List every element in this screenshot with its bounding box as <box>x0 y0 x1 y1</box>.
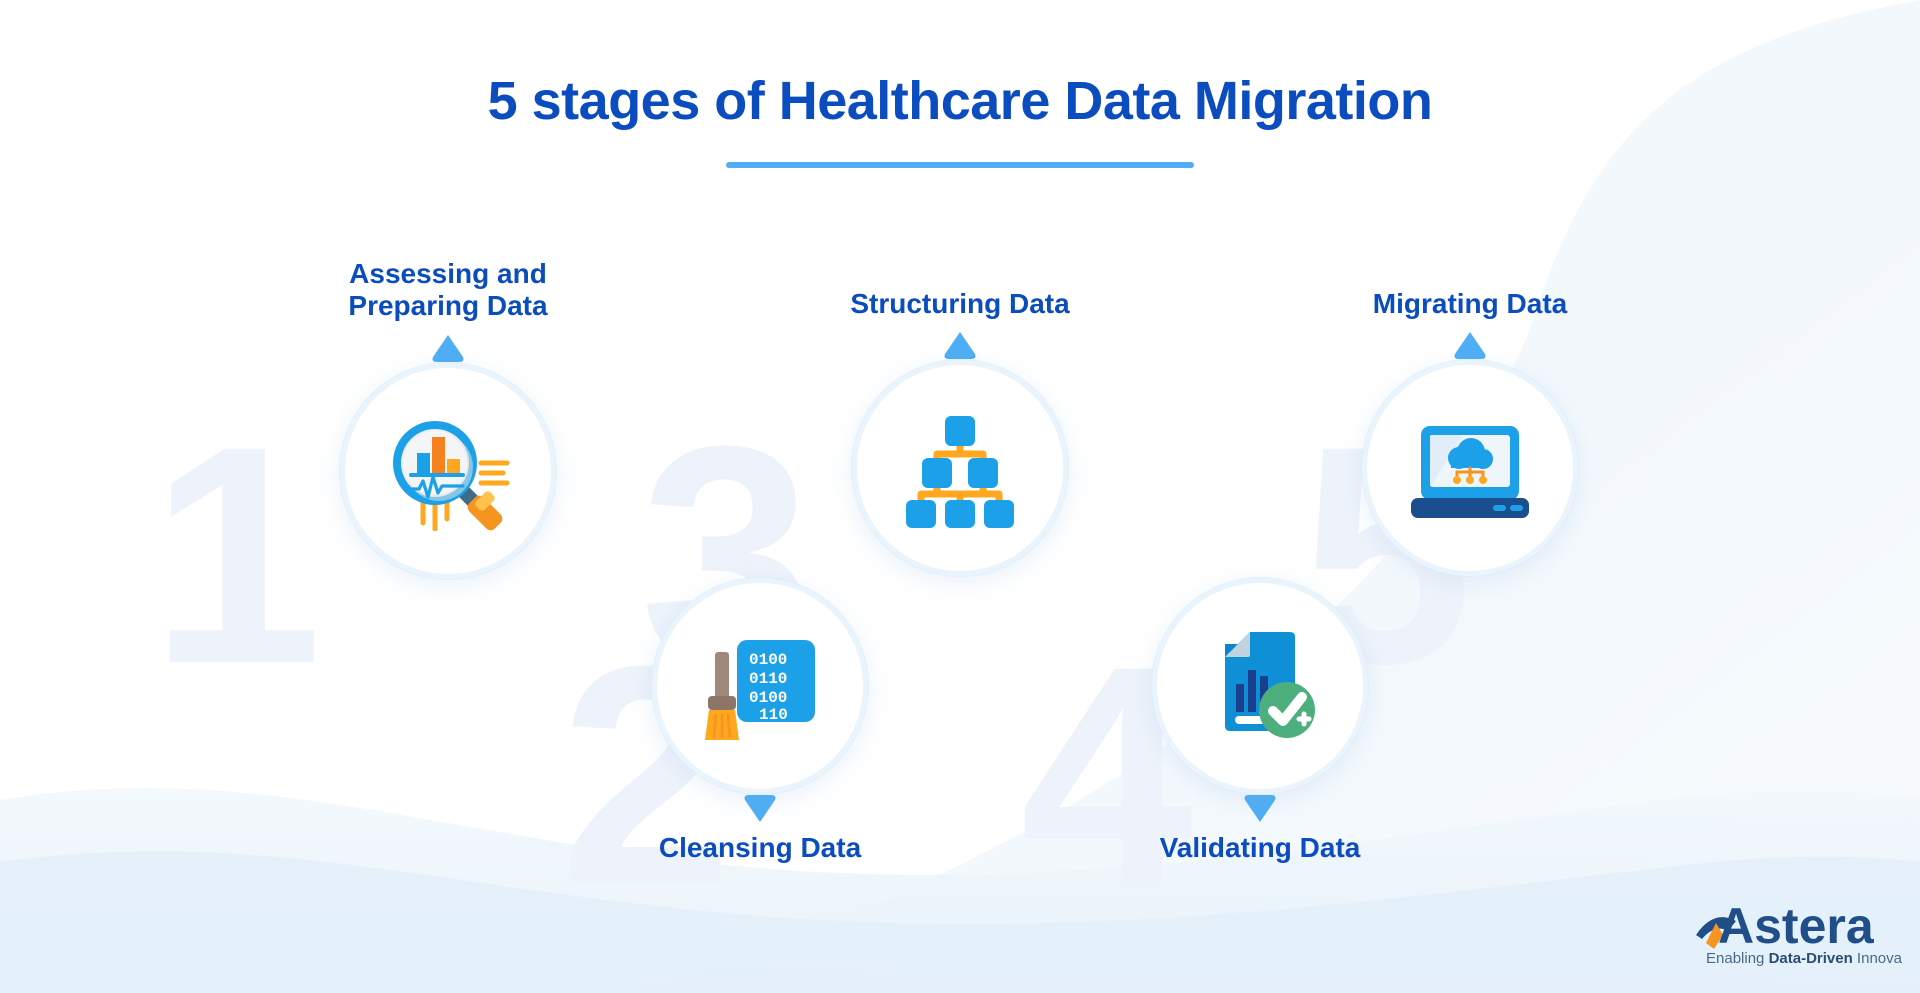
binary-row-3: 0100 <box>749 689 787 707</box>
header: 5 stages of Healthcare Data Migration <box>0 0 1920 168</box>
astera-logo-icon: Astera Enabling Data-Driven Innovation <box>1692 891 1902 973</box>
stage-validating-data[interactable]: Validating Data <box>1110 578 1410 864</box>
hierarchy-tree-icon <box>895 408 1025 528</box>
stage-cleansing-data[interactable]: 0100 0110 0100 110 Cleansing Da <box>610 578 910 864</box>
triangle-up-pointer-icon <box>1242 794 1278 824</box>
page-title: 5 stages of Healthcare Data Migration <box>0 70 1920 132</box>
svg-text:Enabling Data-Driven Innovatio: Enabling Data-Driven Innovation <box>1706 950 1902 967</box>
stage-label-4: Validating Data <box>1110 832 1410 864</box>
stage-label-2: Cleansing Data <box>610 832 910 864</box>
stage-label-1: Assessing and Preparing Data <box>298 258 598 323</box>
triangle-down-pointer-icon <box>430 333 466 363</box>
binary-row-4: 110 <box>759 706 788 724</box>
stage-migrating-data[interactable]: Migrating Data <box>1320 288 1620 576</box>
stage-assessing-and-preparing-data[interactable]: Assessing and Preparing Data <box>298 258 598 579</box>
magnifier-bar-chart-icon <box>383 411 513 531</box>
broom-binary-icon: 0100 0110 0100 110 <box>695 626 825 746</box>
binary-row-2: 0110 <box>749 670 787 688</box>
stage-circle-1[interactable] <box>340 363 556 579</box>
stage-label-3: Structuring Data <box>810 288 1110 320</box>
stage-label-5: Migrating Data <box>1320 288 1620 320</box>
stage-circle-5[interactable] <box>1362 360 1578 576</box>
binary-row-1: 0100 <box>749 651 787 669</box>
stage-structuring-data[interactable]: Structuring Data <box>810 288 1110 576</box>
stage-pointer-4 <box>1110 794 1410 824</box>
triangle-down-pointer-icon <box>1452 330 1488 360</box>
stage-circle-3[interactable] <box>852 360 1068 576</box>
title-divider <box>726 162 1194 168</box>
stage-circle-4[interactable] <box>1152 578 1368 794</box>
svg-text:Astera: Astera <box>1718 898 1875 954</box>
laptop-cloud-icon <box>1405 408 1535 528</box>
triangle-down-pointer-icon <box>942 330 978 360</box>
document-check-icon <box>1195 626 1325 746</box>
astera-logo[interactable]: Astera Enabling Data-Driven Innovation <box>1692 891 1902 973</box>
stage-pointer-1 <box>298 333 598 363</box>
stage-pointer-3 <box>810 330 1110 360</box>
stage-circle-2[interactable]: 0100 0110 0100 110 <box>652 578 868 794</box>
stage-pointer-5 <box>1320 330 1620 360</box>
stage-pointer-2 <box>610 794 910 824</box>
triangle-up-pointer-icon <box>742 794 778 824</box>
